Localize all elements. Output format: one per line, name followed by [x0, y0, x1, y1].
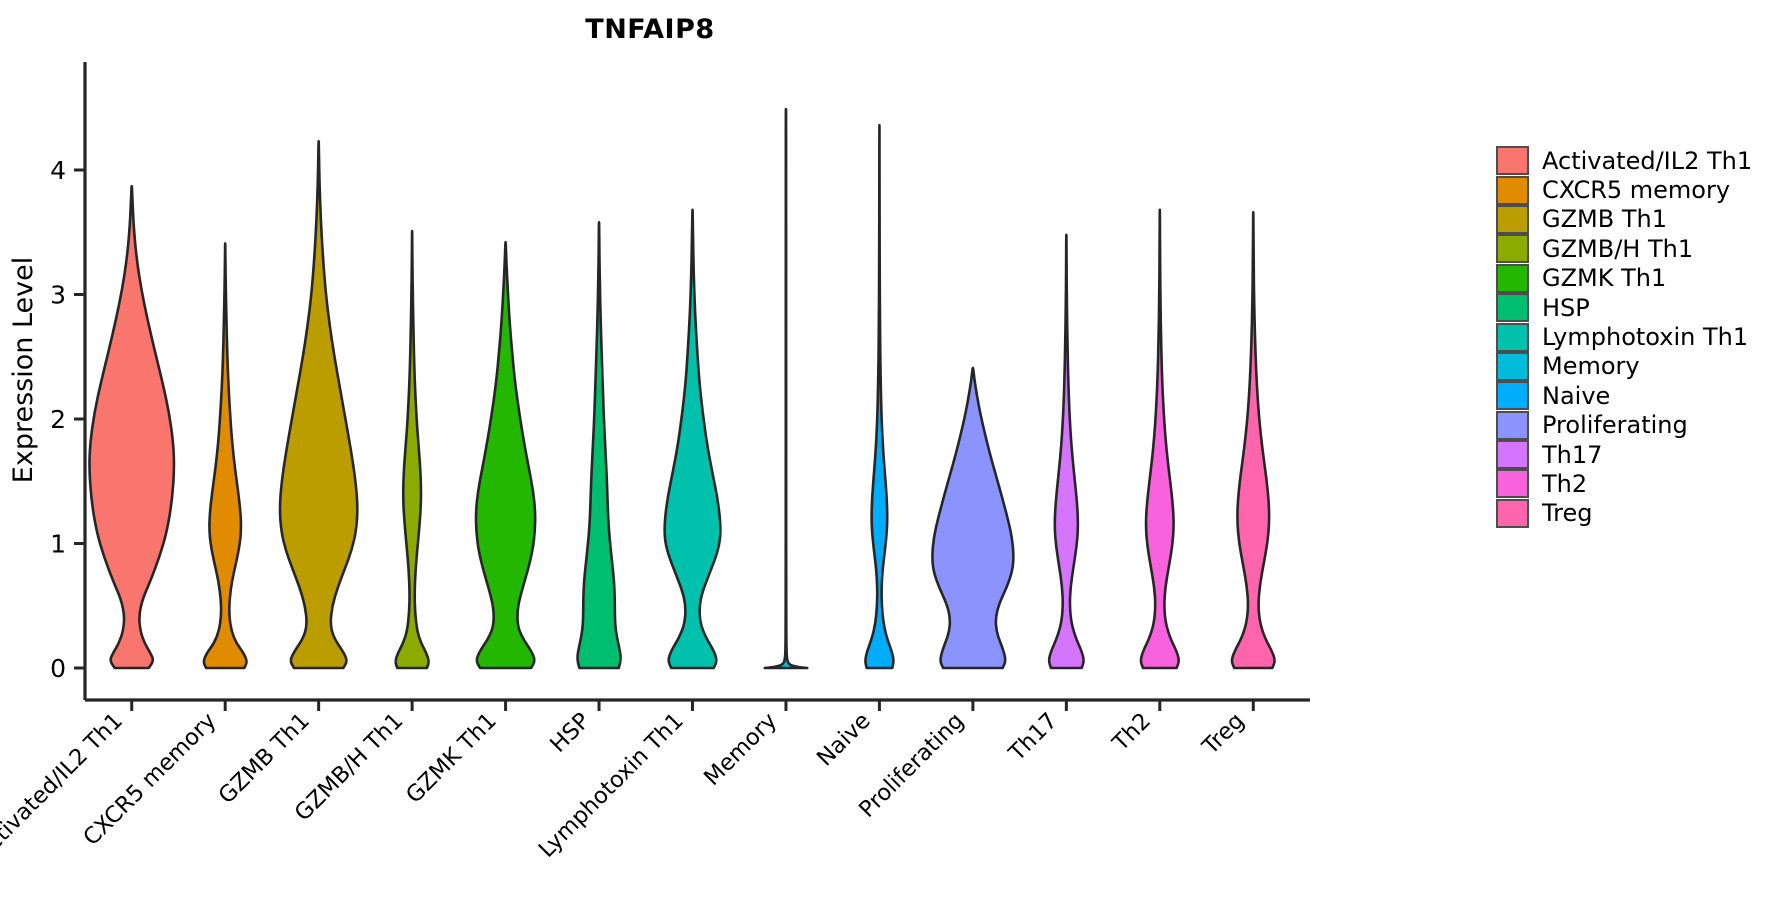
legend-color-swatch — [1496, 352, 1529, 381]
violin-naive[interactable] — [865, 125, 893, 668]
legend-item-label: GZMB Th1 — [1542, 207, 1667, 231]
legend-item[interactable]: GZMB/H Th1 — [1496, 234, 1752, 263]
x-tick-label: GZMK Th1 — [401, 708, 502, 809]
y-tick-label: 1 — [50, 530, 66, 559]
legend-item-label: Treg — [1542, 501, 1592, 525]
legend-color-swatch — [1496, 293, 1529, 322]
violin-gzmb-th1[interactable] — [280, 141, 357, 668]
legend-item[interactable]: Lymphotoxin Th1 — [1496, 322, 1752, 351]
legend-color-swatch — [1496, 323, 1529, 352]
legend-color-swatch — [1496, 499, 1529, 528]
x-tick-label: Naive — [812, 708, 876, 772]
legend-item-label: Proliferating — [1542, 413, 1688, 437]
y-tick-label: 2 — [50, 405, 66, 434]
legend-color-swatch — [1496, 411, 1529, 440]
legend-item-label: Memory — [1542, 354, 1640, 378]
violin-activated-il2-th1[interactable] — [90, 186, 174, 668]
legend-item-label: Th17 — [1542, 443, 1602, 467]
legend-item-label: Lymphotoxin Th1 — [1542, 325, 1748, 349]
legend-item-label: HSP — [1542, 296, 1590, 320]
violin-th17[interactable] — [1049, 235, 1083, 668]
x-tick-label: Treg — [1197, 708, 1250, 761]
legend-item-label: CXCR5 memory — [1542, 178, 1730, 202]
legend-color-swatch — [1496, 440, 1529, 469]
legend-item[interactable]: Activated/IL2 Th1 — [1496, 146, 1752, 175]
legend: Activated/IL2 Th1CXCR5 memoryGZMB Th1GZM… — [1496, 146, 1752, 528]
legend-item-label: Activated/IL2 Th1 — [1542, 149, 1752, 173]
x-tick-label: GZMB Th1 — [214, 708, 315, 809]
violin-gzmk-th1[interactable] — [476, 242, 535, 668]
y-tick-label: 0 — [50, 654, 66, 683]
y-tick-label: 4 — [50, 156, 66, 185]
legend-item-label: GZMK Th1 — [1542, 266, 1666, 290]
x-tick-label: Activated/IL2 Th1 — [0, 708, 128, 866]
violin-memory[interactable] — [765, 109, 808, 668]
violin-plot-figure: TNFAIP8 01234 Activated/IL2 Th1CXCR5 mem… — [0, 0, 1777, 900]
violin-treg[interactable] — [1232, 212, 1275, 668]
y-axis-label: Expression Level — [8, 257, 39, 483]
legend-item[interactable]: Th2 — [1496, 469, 1752, 498]
x-axis-ticks: Activated/IL2 Th1CXCR5 memoryGZMB Th1GZM… — [0, 700, 1253, 866]
legend-color-swatch — [1496, 205, 1529, 234]
x-tick-label: Memory — [699, 708, 782, 791]
legend-color-swatch — [1496, 176, 1529, 205]
violin-gzmb-h-th1[interactable] — [396, 231, 429, 668]
x-tick-label: HSP — [545, 708, 595, 758]
violin-cxcr5-memory[interactable] — [204, 243, 247, 668]
legend-color-swatch — [1496, 146, 1529, 175]
legend-color-swatch — [1496, 469, 1529, 498]
legend-item[interactable]: Treg — [1496, 499, 1752, 528]
legend-item-label: GZMB/H Th1 — [1542, 237, 1693, 261]
legend-item[interactable]: GZMB Th1 — [1496, 205, 1752, 234]
legend-color-swatch — [1496, 264, 1529, 293]
violins-layer — [90, 109, 1275, 668]
violin-hsp[interactable] — [578, 222, 621, 668]
violin-proliferating[interactable] — [932, 368, 1013, 668]
y-axis-title: Expression Level — [8, 257, 39, 483]
legend-item[interactable]: Proliferating — [1496, 411, 1752, 440]
legend-item-label: Th2 — [1542, 472, 1587, 496]
legend-item[interactable]: HSP — [1496, 293, 1752, 322]
legend-item[interactable]: Naive — [1496, 381, 1752, 410]
violin-th2[interactable] — [1141, 210, 1179, 668]
legend-item-label: Naive — [1542, 384, 1610, 408]
legend-color-swatch — [1496, 381, 1529, 410]
y-tick-label: 3 — [50, 281, 66, 310]
y-axis-ticks: 01234 — [50, 156, 85, 683]
legend-item[interactable]: GZMK Th1 — [1496, 264, 1752, 293]
x-tick-label: Th17 — [1003, 708, 1062, 767]
x-tick-label: Th2 — [1107, 708, 1156, 757]
legend-color-swatch — [1496, 234, 1529, 263]
legend-item[interactable]: Memory — [1496, 352, 1752, 381]
legend-item[interactable]: CXCR5 memory — [1496, 175, 1752, 204]
violin-lymphotoxin-th1[interactable] — [665, 210, 721, 668]
legend-item[interactable]: Th17 — [1496, 440, 1752, 469]
